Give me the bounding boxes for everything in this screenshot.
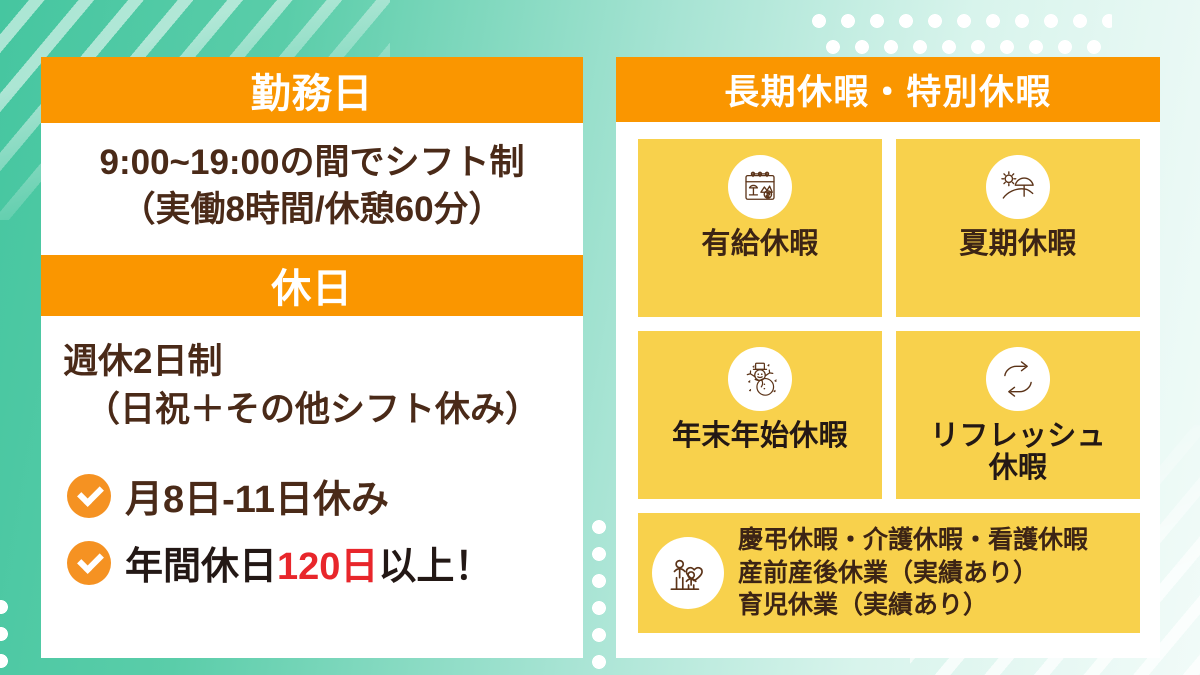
- dot-pattern-center-column: [592, 520, 610, 675]
- sun-parasol-icon: [986, 155, 1050, 219]
- bullet-prefix: 年間休日: [125, 546, 277, 588]
- list-item: 年間休日120日以上！: [67, 535, 583, 590]
- dot-pattern-left-edge: [0, 600, 12, 675]
- leave-card-label: 夏期休暇: [959, 228, 1076, 260]
- work-days-body: 9:00~19:00の間でシフト制 （実働8時間/休憩60分）: [41, 123, 583, 248]
- leave-card-label: 有給休暇: [701, 228, 818, 260]
- family-leave-line-3: 育児休業（実績あり）: [738, 589, 1088, 622]
- work-break-line: （実働8時間/休憩60分）: [41, 186, 583, 233]
- family-leave-line-2: 産前産後休業（実績あり）: [738, 557, 1088, 590]
- bullet-suffix: 以上！: [378, 546, 492, 588]
- leave-card-summer[interactable]: 夏期休暇: [896, 139, 1140, 317]
- holiday-header: 休日: [41, 255, 583, 316]
- check-icon: [67, 474, 111, 518]
- list-item: 月8日-11日休み: [67, 468, 583, 523]
- family-leave-line-1: 慶弔休暇・介護休暇・看護休暇: [738, 524, 1088, 557]
- leave-card-refresh[interactable]: リフレッシュ休暇: [896, 331, 1140, 499]
- work-hours-line: 9:00~19:00の間でシフト制: [41, 139, 583, 186]
- snowman-icon: [728, 347, 792, 411]
- leave-card-label: 年末年始休暇: [672, 420, 848, 452]
- bullet-highlight-number: 120日: [277, 546, 378, 588]
- leave-cards-row-2: 年末年始休暇 リフレッシュ休暇: [638, 317, 1140, 499]
- bullet-label-highlight: 年間休日120日以上！: [125, 535, 492, 590]
- holiday-detail-line: （日祝＋その他シフト休み）: [63, 386, 583, 434]
- leave-cards-row-1: 有給休暇: [638, 139, 1140, 317]
- holiday-system-line: 週休2日制: [63, 338, 583, 386]
- leave-card-label: リフレッシュ休暇: [930, 420, 1106, 485]
- check-icon: [67, 541, 111, 585]
- long-leave-header: 長期休暇・特別休暇: [616, 57, 1160, 122]
- work-days-header: 勤務日: [41, 57, 583, 123]
- holiday-body: 週休2日制 （日祝＋その他シフト休み）: [41, 316, 583, 435]
- family-leave-lines: 慶弔休暇・介護休暇・看護休暇 産前産後休業（実績あり） 育児休業（実績あり）: [738, 524, 1088, 622]
- family-heart-icon: [652, 537, 724, 609]
- bullet-label: 月8日-11日休み: [125, 468, 389, 523]
- leave-cards-grid: 有給休暇: [616, 122, 1160, 633]
- leave-types-panel: 長期休暇・特別休暇: [616, 57, 1160, 658]
- refresh-arrows-icon: [986, 347, 1050, 411]
- infographic-canvas: 勤務日 9:00~19:00の間でシフト制 （実働8時間/休憩60分） 休日 週…: [0, 0, 1200, 675]
- leave-card-newyear[interactable]: 年末年始休暇: [638, 331, 882, 499]
- holiday-bullet-list: 月8日-11日休み 年間休日120日以上！: [41, 468, 583, 590]
- leave-card-paid[interactable]: 有給休暇: [638, 139, 882, 317]
- calendar-beach-coin-icon: [728, 155, 792, 219]
- leave-card-family[interactable]: 慶弔休暇・介護休暇・看護休暇 産前産後休業（実績あり） 育児休業（実績あり）: [638, 513, 1140, 633]
- work-schedule-panel: 勤務日 9:00~19:00の間でシフト制 （実働8時間/休憩60分） 休日 週…: [41, 57, 583, 658]
